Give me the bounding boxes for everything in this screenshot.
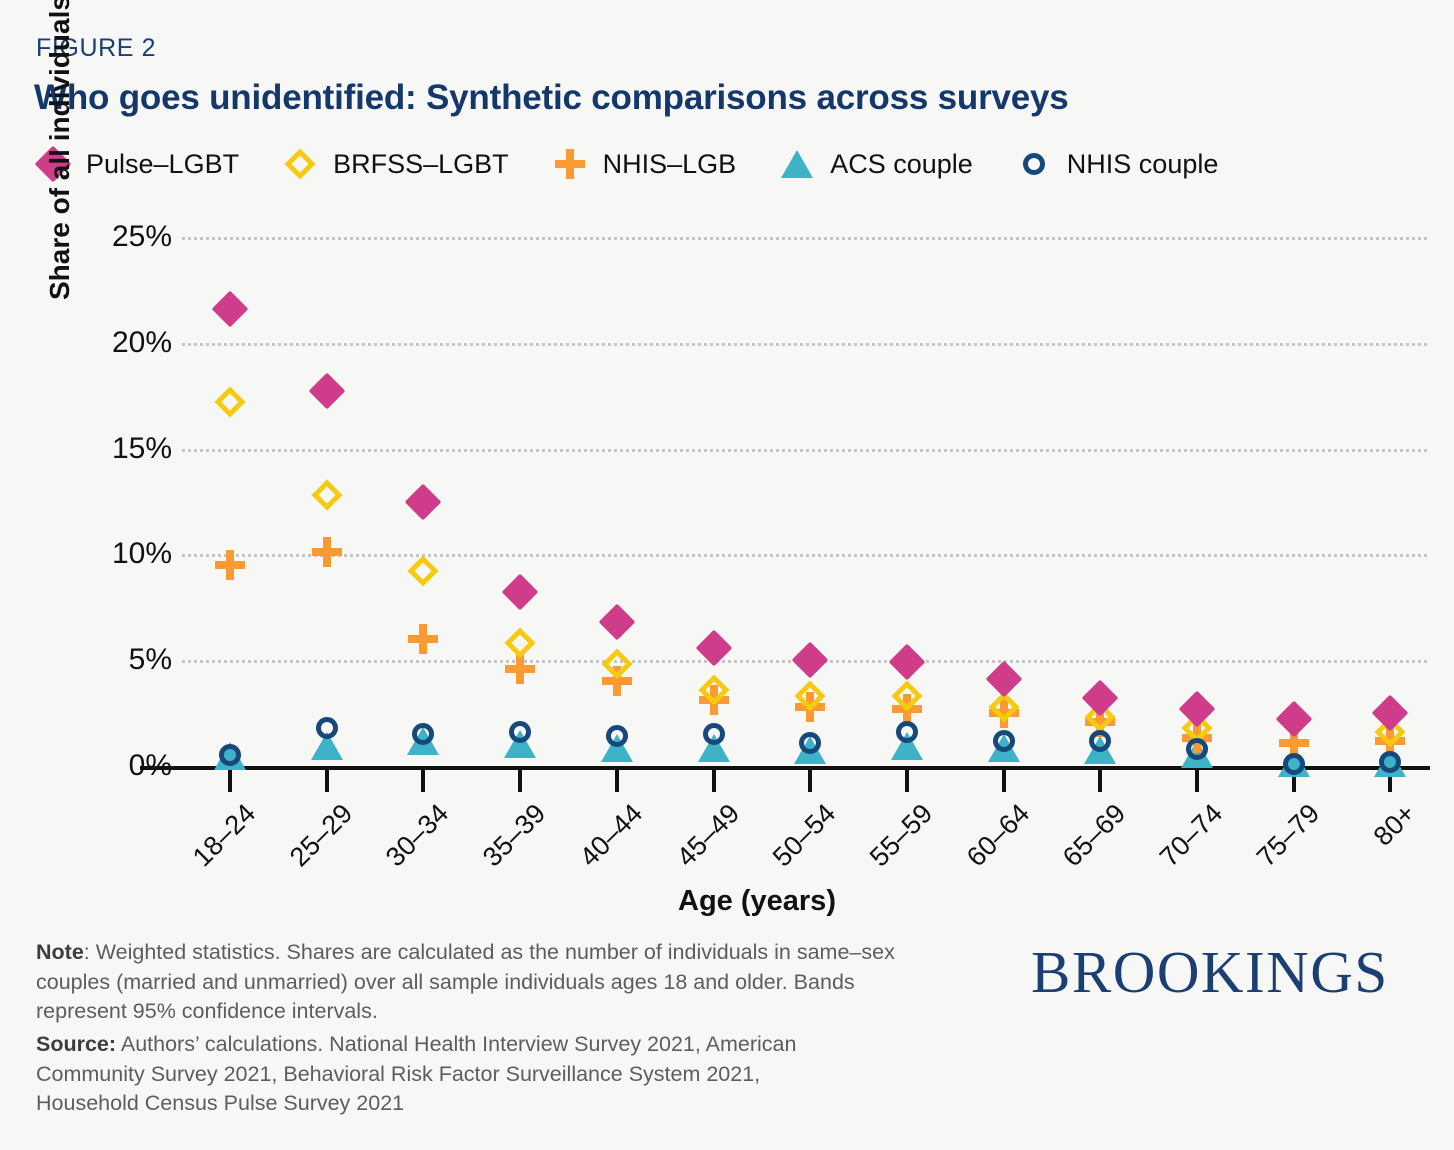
data-point — [993, 696, 1015, 718]
data-point — [312, 537, 342, 567]
data-point — [316, 484, 338, 506]
data-point — [412, 723, 434, 745]
data-point — [316, 717, 338, 739]
data-point — [703, 679, 725, 701]
data-point — [509, 632, 531, 654]
data-point — [1089, 730, 1111, 752]
data-point — [1087, 685, 1113, 711]
data-point — [896, 721, 918, 743]
data-point — [606, 725, 628, 747]
data-point — [219, 744, 241, 766]
data-point — [314, 378, 340, 404]
data-point — [1377, 700, 1403, 726]
data-point — [1281, 706, 1307, 732]
data-point — [219, 391, 241, 413]
data-point — [604, 609, 630, 635]
data-point — [991, 666, 1017, 692]
data-point — [797, 647, 823, 673]
data-point — [799, 732, 821, 754]
data-point — [701, 635, 727, 661]
data-point — [606, 653, 628, 675]
data-point — [894, 649, 920, 675]
data-point — [1379, 751, 1401, 773]
data-point — [408, 624, 438, 654]
data-point — [1184, 696, 1210, 722]
chart-series-layer — [0, 0, 1454, 1150]
data-point — [703, 723, 725, 745]
data-point — [215, 550, 245, 580]
data-point — [217, 296, 243, 322]
data-point — [410, 489, 436, 515]
data-point — [412, 560, 434, 582]
data-point — [896, 685, 918, 707]
data-point — [799, 685, 821, 707]
data-point — [993, 730, 1015, 752]
data-point — [1283, 753, 1305, 775]
data-point — [509, 721, 531, 743]
data-point — [507, 579, 533, 605]
data-point — [1186, 738, 1208, 760]
figure-page: FIGURE 2 Who goes unidentified: Syntheti… — [0, 0, 1454, 1150]
